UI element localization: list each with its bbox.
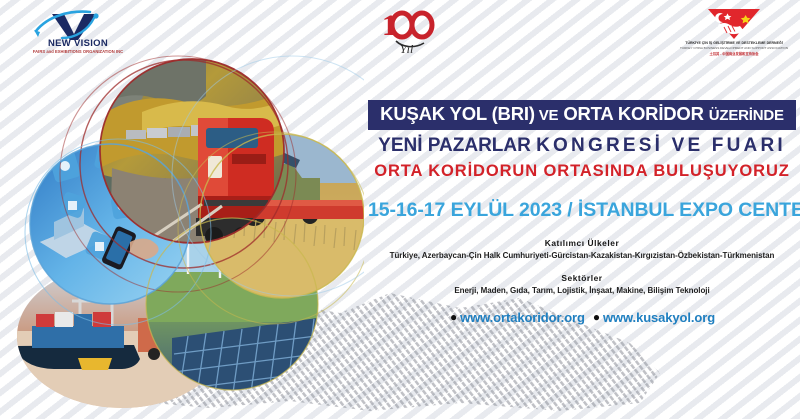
headline-line2: YENİ PAZARLAR KONGRESİ VE FUARI (368, 136, 796, 155)
association-line1: TÜRKİYE ÇİN İŞ GELİŞTİRME VE DESTEKLEME … (678, 41, 790, 45)
collage-circles (0, 46, 364, 419)
svg-text:Yıl: Yıl (400, 42, 414, 56)
headline-band: KUŞAK YOL (BRI) VE ORTA KORİDOR ÜZERİNDE (368, 100, 796, 130)
headline-band-rest: ORTA KORİDOR (563, 103, 703, 124)
association-line3: 土耳其 - 中国商业发展和支持协会 (678, 51, 790, 56)
headline-line3: ORTA KORİDORUN ORTASINDA BULUŞUYORUZ (368, 163, 796, 180)
headline-band-mid: VE (539, 107, 559, 124)
centennial-logo: 1 Yıl (380, 5, 442, 57)
headline-band-end: ÜZERİNDE (709, 107, 784, 124)
poster-canvas: NEW VISION FAIRS and EXHIBITIONS ORGANIZ… (0, 0, 800, 419)
sectors-label: Sektörler (368, 273, 796, 283)
headline-band-main: KUŞAK YOL (BRI) (380, 103, 535, 124)
v-swoosh-logo-icon (18, 8, 138, 42)
handshake-flags-triangle-icon (678, 5, 790, 41)
event-dateline: 15-16-17 EYLÜL 2023 / İSTANBUL EXPO CENT… (368, 201, 796, 221)
website-links: ●www.ortakoridor.org●www.kusakyol.org (368, 310, 796, 325)
link-ortakoridor[interactable]: www.ortakoridor.org (460, 310, 585, 325)
association-line2: TURKEY CHINA BUSINESS DEVELOPMENT AND SU… (678, 46, 790, 50)
headline-line2-a: YENİ PAZARLAR (378, 135, 531, 156)
association-logo: TÜRKİYE ÇİN İŞ GELİŞTİRME VE DESTEKLEME … (678, 5, 790, 57)
headline-line2-b: KONGRESİ VE FUARI (536, 135, 786, 156)
bullet-icon-1: ● (450, 310, 457, 324)
turkey-centennial-100-yil-icon: 1 Yıl (380, 5, 442, 57)
sectors-list: Enerji, Maden, Gıda, Tarım, Lojistik, İn… (368, 286, 796, 295)
countries-label: Katılımcı Ülkeler (368, 238, 796, 248)
photo-collage (0, 46, 364, 419)
link-kusakyol[interactable]: www.kusakyol.org (603, 310, 715, 325)
countries-list: Türkiye, Azerbaycan-Çin Halk Cumhuriyeti… (368, 251, 796, 260)
event-text-block: KUŞAK YOL (BRI) VE ORTA KORİDOR ÜZERİNDE… (368, 100, 796, 325)
bullet-icon-2: ● (593, 310, 600, 324)
